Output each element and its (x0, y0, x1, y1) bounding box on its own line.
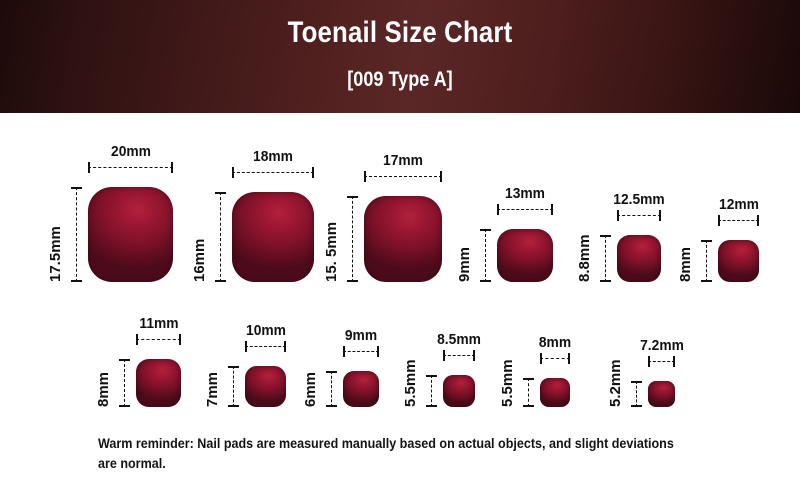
dimension-dash (88, 167, 173, 168)
nail-swatch (136, 359, 181, 407)
width-dimension-line (648, 356, 675, 367)
dimension-cap (523, 405, 534, 407)
nail-size-item: 17mm15. 5mm (364, 196, 442, 282)
dimension-cap (119, 405, 130, 407)
dimension-dash (245, 346, 286, 347)
nail-height-label: 8mm (95, 372, 112, 407)
dimension-cap (480, 280, 491, 282)
dimension-cap (568, 353, 570, 364)
nail-swatch (232, 192, 314, 282)
height-dimension-line (631, 381, 642, 407)
page-subtitle: [009 Type A] (56, 68, 744, 92)
nail-width-label: 20mm (75, 143, 185, 160)
width-dimension-line (497, 204, 553, 215)
height-dimension-line (71, 187, 82, 282)
dimension-cap (673, 356, 675, 367)
nail-height-label: 8mm (677, 247, 694, 282)
dimension-dash (136, 339, 181, 340)
nail-width-label: 17mm (348, 152, 458, 169)
nail-width-label: 10mm (210, 322, 320, 339)
dimension-cap (473, 350, 475, 361)
nail-swatch (648, 381, 675, 407)
nail-size-item: 8mm5.5mm (540, 378, 570, 407)
dimension-cap (701, 280, 712, 282)
dimension-cap (228, 405, 239, 407)
dimension-dash (636, 381, 637, 407)
dimension-dash (528, 378, 529, 407)
nail-size-item: 9mm6mm (343, 371, 379, 407)
dimension-dash (76, 187, 77, 282)
nail-swatch (497, 229, 553, 282)
dimension-dash (343, 351, 379, 352)
nail-size-item: 8.5mm5.5mm (443, 375, 475, 407)
nail-width-label: 11mm (103, 315, 213, 332)
nail-size-item: 10mm7mm (245, 366, 286, 407)
nail-size-item: 20mm17.5mm (88, 187, 173, 282)
nail-height-label: 16mm (191, 239, 208, 282)
height-dimension-line (480, 229, 491, 282)
nail-width-label: 13mm (470, 185, 580, 202)
dimension-dash (443, 355, 475, 356)
nail-width-label: 8mm (500, 334, 610, 351)
dimension-dash (617, 215, 661, 216)
dimension-cap (659, 210, 661, 221)
dimension-cap (426, 405, 437, 407)
height-dimension-line (228, 366, 239, 407)
nail-swatch (617, 235, 661, 282)
nail-size-item: 13mm9mm (497, 229, 553, 282)
dimension-cap (179, 334, 181, 345)
nail-width-label: 8.5mm (404, 331, 514, 348)
dimension-dash (124, 359, 125, 407)
nail-height-label: 5.5mm (499, 359, 516, 407)
nail-swatch (540, 378, 570, 407)
width-dimension-line (364, 171, 442, 182)
dimension-dash (540, 358, 570, 359)
height-dimension-line (600, 235, 611, 282)
dimension-cap (347, 280, 358, 282)
dimension-dash (331, 371, 332, 407)
height-dimension-line (701, 240, 712, 282)
nail-width-label: 7.2mm (606, 337, 716, 354)
nail-width-label: 9mm (306, 327, 416, 344)
nail-width-label: 12.5mm (584, 191, 694, 208)
height-dimension-line (119, 359, 130, 407)
nail-swatch (245, 366, 286, 407)
nail-swatch (443, 375, 475, 407)
nail-row: 11mm8mm10mm7mm9mm6mm8.5mm5.5mm8mm5.5mm7.… (0, 298, 800, 413)
nail-swatch (88, 187, 173, 282)
nail-height-label: 6mm (302, 372, 319, 407)
dimension-dash (706, 240, 707, 282)
dimension-dash (485, 229, 486, 282)
width-dimension-line (540, 353, 570, 364)
nail-height-label: 8.8mm (576, 234, 593, 282)
nail-size-item: 18mm16mm (232, 192, 314, 282)
page-title: Toenail Size Chart (56, 16, 744, 50)
dimension-dash (648, 361, 675, 362)
dimension-cap (215, 280, 226, 282)
nail-height-label: 5.2mm (607, 359, 624, 407)
nail-height-label: 9mm (456, 247, 473, 282)
dimension-cap (284, 341, 286, 352)
warm-reminder-note: Warm reminder: Nail pads are measured ma… (98, 434, 675, 473)
width-dimension-line (136, 334, 181, 345)
nail-size-item: 7.2mm5.2mm (648, 381, 675, 407)
dimension-cap (71, 280, 82, 282)
nail-swatch (364, 196, 442, 282)
nail-swatch (343, 371, 379, 407)
dimension-dash (364, 176, 442, 177)
dimension-dash (220, 192, 221, 282)
nail-height-label: 15. 5mm (323, 222, 340, 282)
height-dimension-line (426, 375, 437, 407)
width-dimension-line (245, 341, 286, 352)
dimension-dash (233, 366, 234, 407)
dimension-cap (600, 280, 611, 282)
nail-row: 20mm17.5mm18mm16mm17mm15. 5mm13mm9mm12.5… (0, 113, 800, 288)
width-dimension-line (617, 210, 661, 221)
dimension-dash (431, 375, 432, 407)
dimension-cap (551, 204, 553, 215)
height-dimension-line (326, 371, 337, 407)
dimension-cap (631, 405, 642, 407)
dimension-dash (718, 220, 759, 221)
height-dimension-line (347, 196, 358, 282)
nail-size-item: 11mm8mm (136, 359, 181, 407)
width-dimension-line (232, 167, 314, 178)
dimension-cap (312, 167, 314, 178)
nail-height-label: 7mm (204, 372, 221, 407)
dimension-dash (352, 196, 353, 282)
nail-size-item: 12.5mm8.8mm (617, 235, 661, 282)
nail-height-label: 5.5mm (402, 359, 419, 407)
nail-size-item: 12mm8mm (718, 240, 759, 282)
dimension-cap (757, 215, 759, 226)
dimension-cap (171, 162, 173, 173)
width-dimension-line (718, 215, 759, 226)
height-dimension-line (215, 192, 226, 282)
nail-width-label: 12mm (683, 196, 793, 213)
chart-header: Toenail Size Chart [009 Type A] (0, 0, 800, 113)
height-dimension-line (523, 378, 534, 407)
dimension-cap (440, 171, 442, 182)
dimension-dash (497, 209, 553, 210)
width-dimension-line (443, 350, 475, 361)
dimension-dash (232, 172, 314, 173)
width-dimension-line (88, 162, 173, 173)
nail-swatch (718, 240, 759, 282)
nail-height-label: 17.5mm (47, 226, 64, 282)
width-dimension-line (343, 346, 379, 357)
dimension-dash (605, 235, 606, 282)
nail-width-label: 18mm (218, 148, 328, 165)
dimension-cap (326, 405, 337, 407)
dimension-cap (377, 346, 379, 357)
